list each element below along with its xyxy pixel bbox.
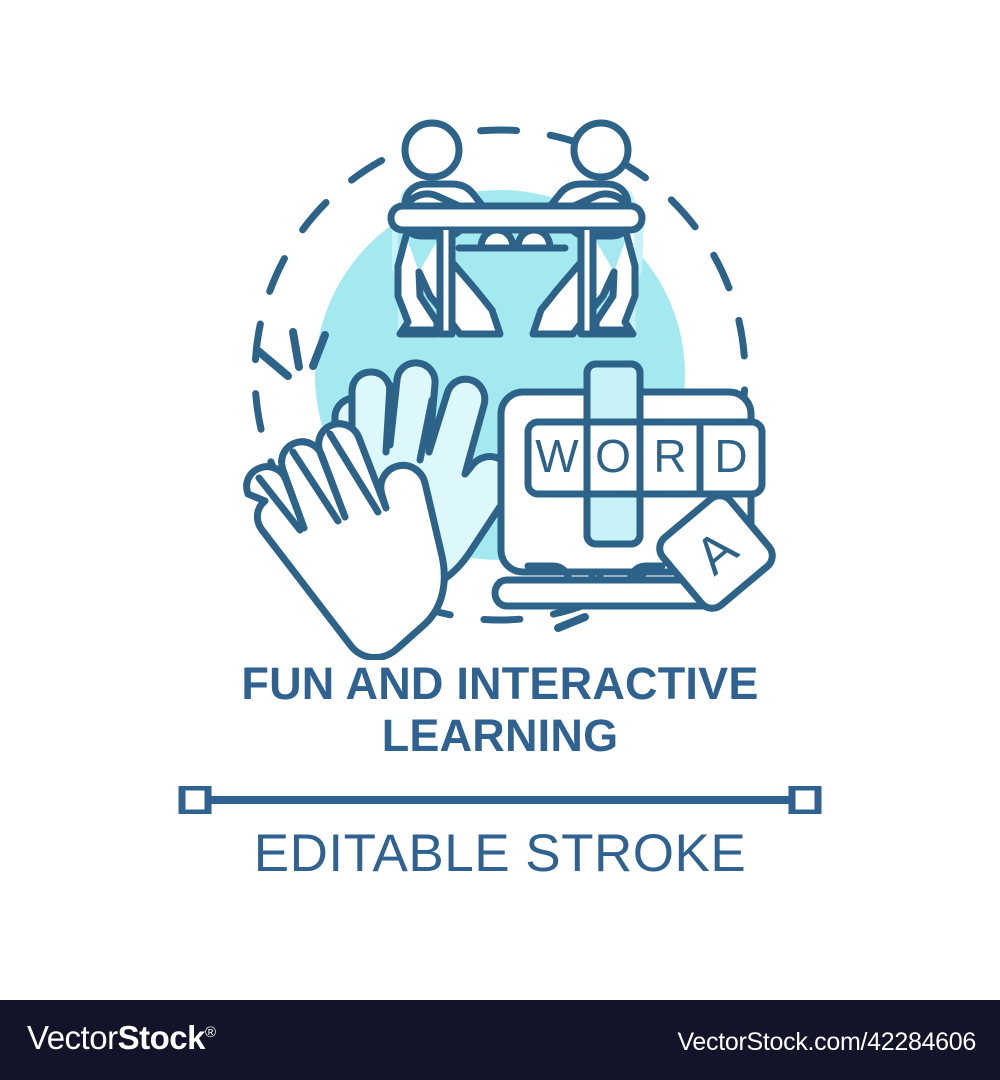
sparkle-lines-icon [257, 332, 325, 376]
crossword-letter-r: R [653, 430, 686, 482]
crossword-letter-d: D [714, 430, 747, 482]
crossword-letter-w: W [535, 430, 579, 482]
logo-text-stock: Stock [118, 1019, 205, 1056]
illustration-svg: W O R D A [0, 0, 1000, 660]
divider-handle-left[interactable] [182, 787, 208, 813]
concept-icon-page: W O R D A FUN AND INTERACTIVE LEARNING [0, 0, 1000, 1080]
concept-illustration: W O R D A [0, 0, 1000, 660]
registered-trademark-icon: ® [205, 1024, 216, 1041]
accent-dash-icon [558, 617, 585, 628]
clapping-hands-icon [247, 363, 513, 658]
divider [0, 786, 1000, 814]
crossword-letter-o: O [595, 430, 631, 482]
divider-svg [0, 786, 1000, 814]
page-title: FUN AND INTERACTIVE LEARNING [0, 658, 1000, 762]
vectorstock-logo: VectorStock® [27, 1021, 216, 1054]
footer-url: VectorStock.com/42284606 [677, 1030, 976, 1055]
divider-handle-right[interactable] [792, 787, 818, 813]
caption-block: FUN AND INTERACTIVE LEARNING [0, 658, 1000, 762]
logo-text-vector: Vector [27, 1019, 118, 1056]
editable-stroke-label: EDITABLE STROKE [0, 823, 1000, 884]
